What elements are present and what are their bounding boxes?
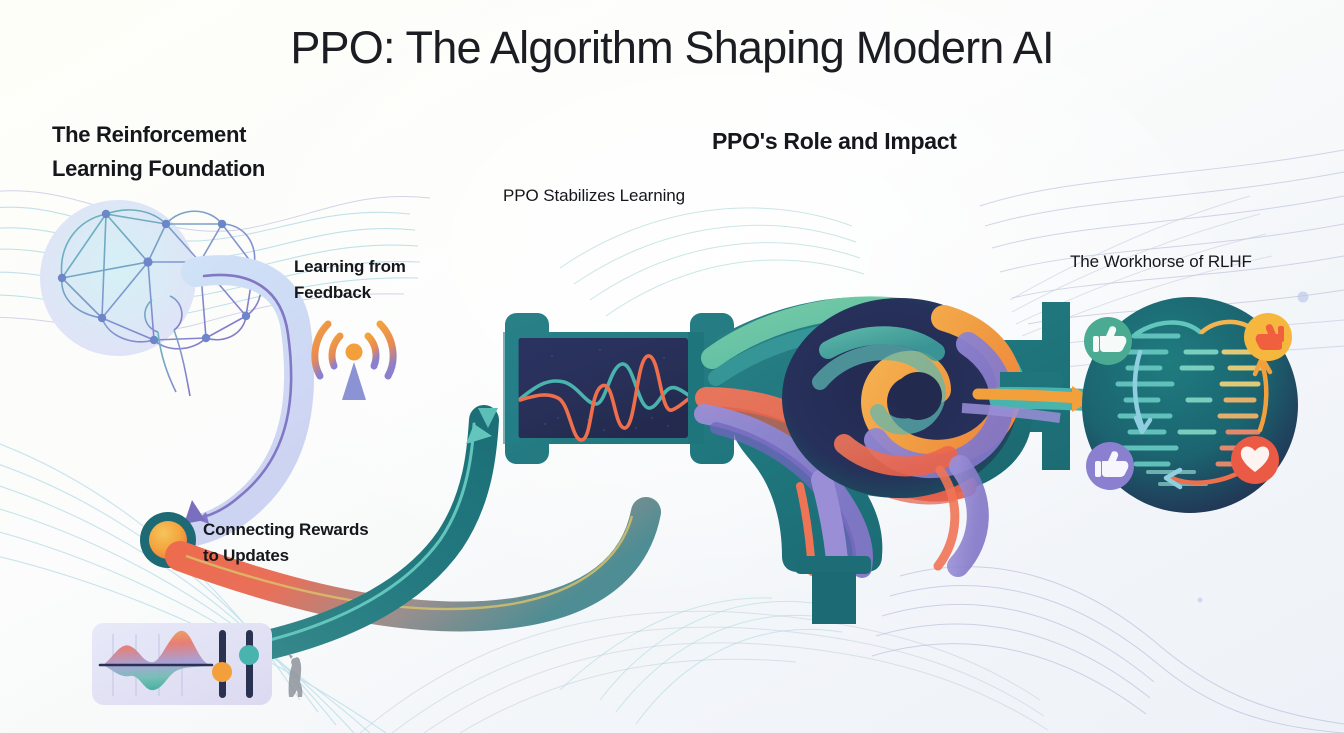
rewards-line2: to Updates [203,546,289,565]
machine-base [795,556,871,624]
brain-network-icon [40,200,261,396]
thumbs-up-icon [1084,317,1132,365]
label-workhorse-of-rlhf: The Workhorse of RLHF [1070,252,1252,272]
rlhf-circle [1082,297,1298,513]
broadcast-signal-icon [315,324,393,400]
infographic-canvas: PPO: The Algorithm Shaping Modern AI The… [0,0,1344,733]
rewards-line1: Connecting Rewards [203,520,368,539]
dog-silhouette-icon [288,654,302,697]
label-learning-from-feedback: Learning fromFeedback [294,254,406,306]
control-widget[interactable] [92,623,272,705]
left-heading-line2: Learning Foundation [52,156,265,181]
page-title: PPO: The Algorithm Shaping Modern AI [0,22,1344,74]
thumbs-down-icon [1244,313,1292,361]
label-connecting-rewards: Connecting Rewardsto Updates [203,517,368,569]
feedback-line2: Feedback [294,283,371,302]
feedback-line1: Learning from [294,257,406,276]
feedback-loop-path [176,270,299,534]
section-heading-left: The ReinforcementLearning Foundation [52,118,265,186]
thumbs-up-icon [1086,442,1134,490]
section-heading-right: PPO's Role and Impact [712,128,957,155]
heart-icon [1231,436,1279,484]
label-ppo-stabilizes: PPO Stabilizes Learning [503,186,685,206]
left-heading-line1: The Reinforcement [52,122,246,147]
main-illustration [0,0,1344,733]
